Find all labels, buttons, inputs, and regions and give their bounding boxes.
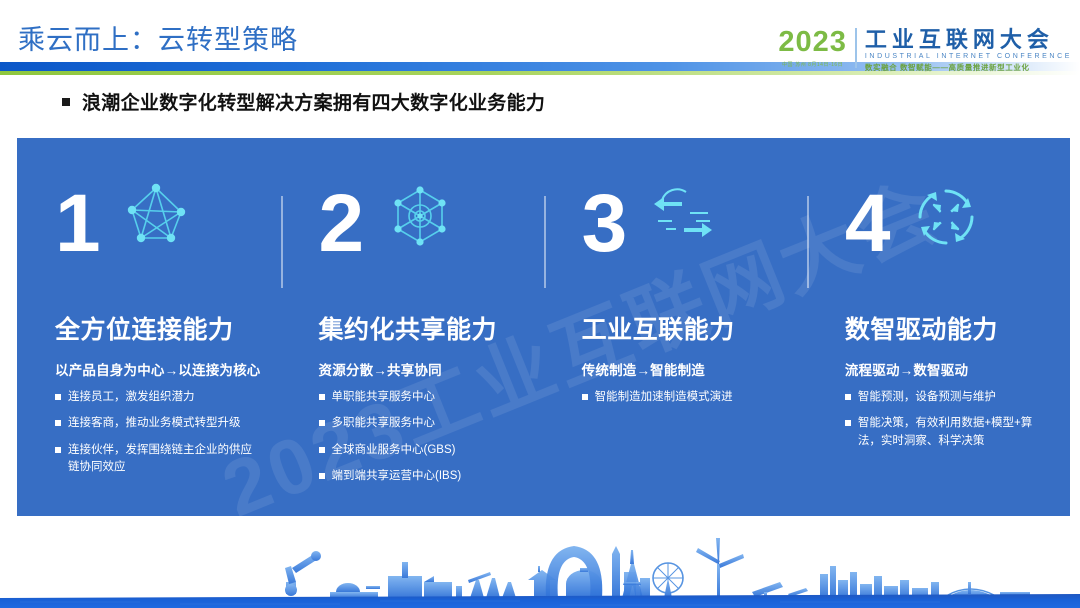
list-item: 智能决策，有效利用数据+模型+算法，实时洞察、科学决策 xyxy=(845,415,1050,450)
column-bullet-list: 智能制造加速制造模式演进 xyxy=(582,389,787,406)
square-bullet-icon xyxy=(55,420,61,426)
logo-name-en: INDUSTRIAL INTERNET CONFERENCE xyxy=(865,53,1072,60)
list-item-text: 端到端共享运营中心(IBS) xyxy=(332,468,462,485)
column-subtitle: 流程驱动→数智驱动 xyxy=(845,359,1050,379)
square-bullet-icon xyxy=(62,98,70,106)
column-number-row: 2 xyxy=(319,186,524,282)
conference-logo: 2023 中国·苏州 8月14日-16日 工业互联网大会 INDUSTRIAL … xyxy=(778,28,1072,73)
page-title: 乘云而上：云转型策略 xyxy=(18,18,298,57)
network-graph-icon xyxy=(119,180,193,254)
column-title: 集约化共享能力 xyxy=(319,310,524,346)
logo-year: 2023 xyxy=(778,28,847,57)
section-heading-text: 浪潮企业数字化转型解决方案拥有四大数字化业务能力 xyxy=(82,88,545,115)
column-number: 3 xyxy=(582,178,626,269)
list-item: 全球商业服务中心(GBS) xyxy=(319,442,524,459)
capability-columns: 1 xyxy=(17,138,1070,516)
list-item-text: 全球商业服务中心(GBS) xyxy=(332,442,456,459)
list-item-text: 连接客商，推动业务模式转型升级 xyxy=(68,415,241,432)
column-number-row: 3 xyxy=(582,186,787,282)
logo-year-block: 2023 中国·苏州 8月14日-16日 xyxy=(778,28,857,68)
column-number: 4 xyxy=(845,178,889,269)
section-heading: 浪潮企业数字化转型解决方案拥有四大数字化业务能力 xyxy=(62,88,545,115)
logo-year-subtitle: 中国·苏州 8月14日-16日 xyxy=(782,61,843,68)
list-item: 连接员工，激发组织潜力 xyxy=(55,389,261,406)
column-subtitle: 以产品自身为中心→以连接为核心 xyxy=(55,359,261,379)
column-title: 数智驱动能力 xyxy=(845,310,1050,346)
square-bullet-icon xyxy=(319,420,325,426)
list-item: 智能预测，设备预测与维护 xyxy=(845,389,1050,406)
column-subtitle: 传统制造→智能制造 xyxy=(582,359,787,379)
logo-slogan: 数实融合 数智赋能——高质量推进新型工业化 xyxy=(865,62,1072,73)
list-item: 连接客商，推动业务模式转型升级 xyxy=(55,415,261,432)
capability-column-2: 2 xyxy=(281,138,544,516)
column-number: 1 xyxy=(55,178,99,269)
hexagon-hub-icon xyxy=(383,180,457,254)
capability-column-1: 1 xyxy=(17,138,281,516)
capability-column-3: 3 工业互联能力 传统制造→智能制造 xyxy=(544,138,807,516)
column-number-row: 4 xyxy=(845,186,1050,282)
logo-name-cn: 工业互联网大会 xyxy=(865,28,1072,51)
square-bullet-icon xyxy=(319,394,325,400)
exchange-arrows-icon xyxy=(646,180,720,254)
cycle-arrows-icon xyxy=(909,180,983,254)
capability-column-4: 4 xyxy=(807,138,1070,516)
list-item-text: 连接员工，激发组织潜力 xyxy=(68,389,195,406)
list-item: 单职能共享服务中心 xyxy=(319,389,524,406)
square-bullet-icon xyxy=(845,394,851,400)
capabilities-panel: 2023工业互联网大会 1 xyxy=(17,138,1070,516)
column-bullet-list: 单职能共享服务中心 多职能共享服务中心 全球商业服务中心(GBS) 端到端共享运… xyxy=(319,389,524,486)
list-item: 多职能共享服务中心 xyxy=(319,415,524,432)
list-item-text: 智能预测，设备预测与维护 xyxy=(858,389,996,406)
logo-name-block: 工业互联网大会 INDUSTRIAL INTERNET CONFERENCE 数… xyxy=(865,28,1072,73)
square-bullet-icon xyxy=(319,473,325,479)
column-title: 全方位连接能力 xyxy=(55,310,261,346)
column-bullet-list: 连接员工，激发组织潜力 连接客商，推动业务模式转型升级 连接伙伴，发挥围绕链主企… xyxy=(55,389,261,477)
square-bullet-icon xyxy=(845,420,851,426)
column-number-row: 1 xyxy=(55,186,261,282)
list-item-text: 单职能共享服务中心 xyxy=(332,389,436,406)
column-bullet-list: 智能预测，设备预测与维护 智能决策，有效利用数据+模型+算法，实时洞察、科学决策 xyxy=(845,389,1050,450)
square-bullet-icon xyxy=(55,447,61,453)
list-item-text: 多职能共享服务中心 xyxy=(332,415,436,432)
list-item: 端到端共享运营中心(IBS) xyxy=(319,468,524,485)
column-subtitle: 资源分散→共享协同 xyxy=(319,359,524,379)
column-title: 工业互联能力 xyxy=(582,310,787,346)
skyline-decoration xyxy=(0,516,1080,608)
list-item: 智能制造加速制造模式演进 xyxy=(582,389,787,406)
list-item: 连接伙伴，发挥围绕链主企业的供应链协同效应 xyxy=(55,442,261,477)
slide: 乘云而上：云转型策略 2023 中国·苏州 8月14日-16日 工业互联网大会 … xyxy=(0,0,1080,608)
square-bullet-icon xyxy=(55,394,61,400)
list-item-text: 连接伙伴，发挥围绕链主企业的供应链协同效应 xyxy=(68,442,261,477)
square-bullet-icon xyxy=(582,394,588,400)
list-item-text: 智能决策，有效利用数据+模型+算法，实时洞察、科学决策 xyxy=(858,415,1050,450)
column-number: 2 xyxy=(319,178,363,269)
list-item-text: 智能制造加速制造模式演进 xyxy=(595,389,733,406)
square-bullet-icon xyxy=(319,447,325,453)
